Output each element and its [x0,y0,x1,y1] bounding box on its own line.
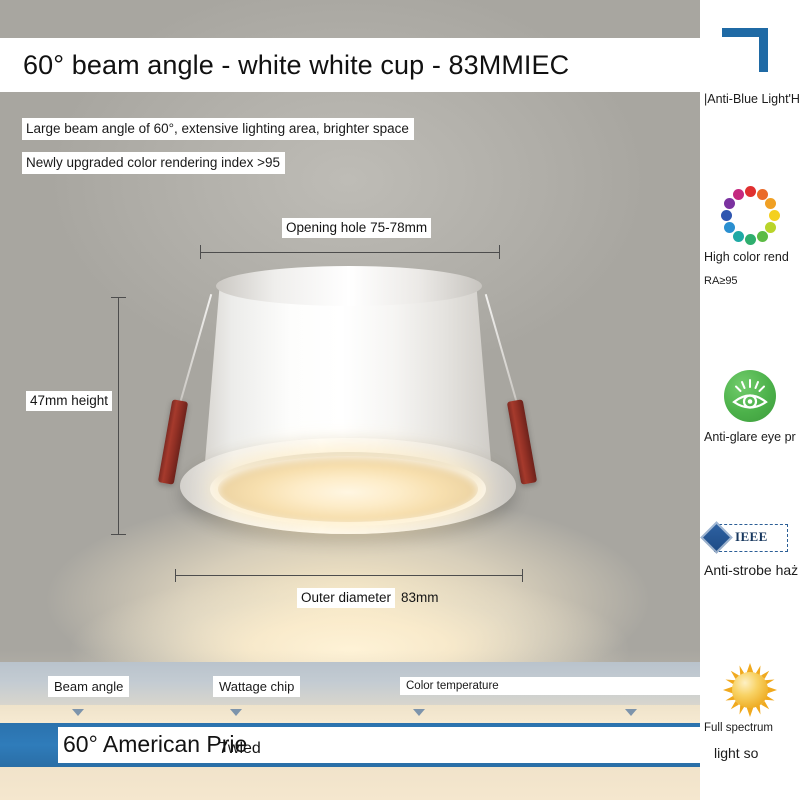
page-title: 60° beam angle - white white cup - 83MMI… [0,50,569,81]
screenshot-root: 60° beam angle - white white cup - 83MMI… [0,0,800,800]
feature-icons-column: |Anti-Blue Light'H High color rend RA≥95 [700,0,800,800]
selected-option-sub-text: 7wled [219,740,261,758]
feature-subcaption-light-source: light so [714,745,758,761]
feature-caption-high-color-rendering: High color rend [704,250,789,264]
opening-hole-tick-left [200,245,201,259]
opening-hole-tick-right [499,245,500,259]
height-dim-line [118,297,119,535]
height-tick-bottom [111,534,126,535]
selector-label-wattage-chip[interactable]: Wattage chip [213,676,300,697]
sun-glyph [722,662,778,718]
spring-clip-right [507,399,537,485]
ieee-diamond-icon [700,521,733,554]
opening-hole-dim-line [200,252,500,253]
height-label: 47mm height [26,391,112,411]
eye-glyph [731,378,769,414]
spring-clip-left [158,399,188,485]
sun-icon [722,662,778,718]
height-tick-top [111,297,126,298]
color-wheel-icon [722,186,778,242]
lamp-top-cap [216,266,482,306]
feature-caption-anti-blue-light: |Anti-Blue Light'H [704,92,800,106]
title-band: 60° beam angle - white white cup - 83MMI… [0,38,700,92]
chevron-down-icon-3[interactable] [413,709,425,716]
lamp-diffuser-lens [218,456,478,522]
bracket-vertical-bar [759,28,768,72]
selector-label-beam-angle[interactable]: Beam angle [48,676,129,697]
chevron-down-icon-4[interactable] [625,709,637,716]
outer-diameter-value: 83mm [401,588,443,608]
ieee-badge: IEEE [714,524,788,552]
outer-diameter-dim-line [175,575,523,576]
selector-label-color-temperature[interactable]: Color temperature [400,677,700,695]
feature-caption-anti-glare: Anti-glare eye pr [704,430,796,444]
feature-subcaption-ra95: RA≥95 [704,275,738,287]
product-photo-panel: 60° beam angle - white white cup - 83MMI… [0,0,700,800]
ieee-badge-text: IEEE [735,529,768,545]
opening-hole-label: Opening hole 75-78mm [282,218,431,238]
bullet-color-rendering: Newly upgraded color rendering index >95 [22,152,285,174]
spring-wire-left [178,294,212,408]
outer-diameter-tick-left [175,569,176,582]
outer-diameter-tick-right [522,569,523,582]
blue-corner-bracket-icon [722,28,768,72]
chevron-down-icon-2[interactable] [230,709,242,716]
feature-caption-anti-strobe: Anti-strobe haż [704,562,798,578]
spring-wire-right [485,294,519,408]
chevron-down-icon-1[interactable] [72,709,84,716]
led-downlight-product [168,266,528,536]
bullet-beam-angle: Large beam angle of 60°, extensive light… [22,118,414,140]
feature-caption-full-spectrum: Full spectrum [704,722,773,734]
outer-diameter-label: Outer diameter [297,588,395,608]
green-eye-icon [724,370,776,422]
selector-arrow-row [0,705,700,723]
